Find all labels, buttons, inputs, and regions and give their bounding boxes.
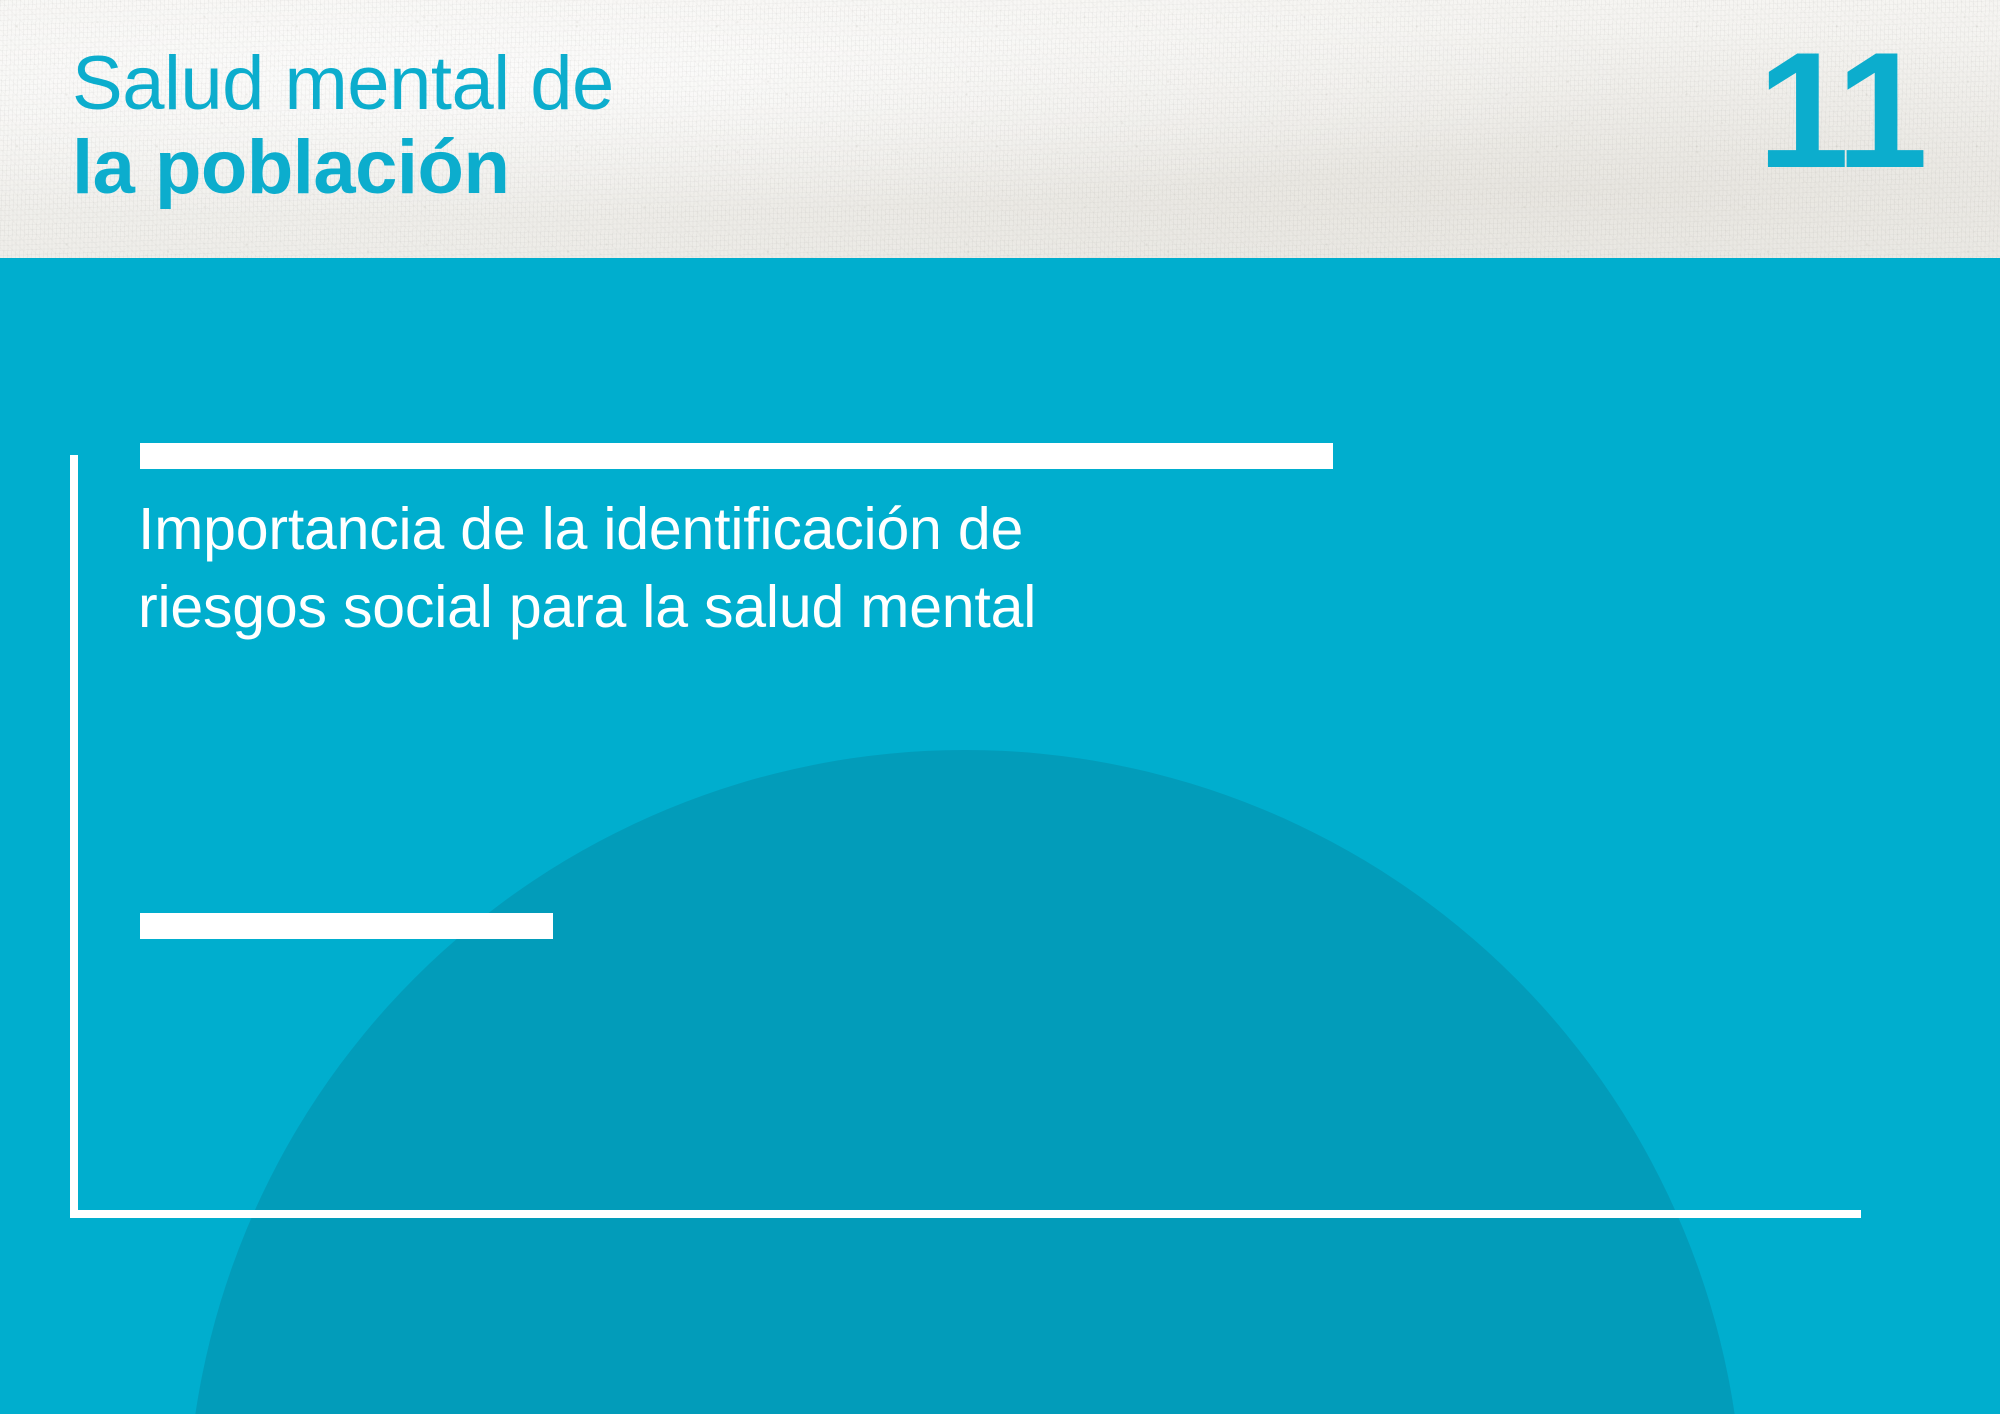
page-title-line-2: la población bbox=[72, 126, 614, 210]
section-subtitle-line-2: riesgos social para la salud mental bbox=[138, 568, 1438, 646]
page-title-line-1: Salud mental de bbox=[72, 42, 614, 126]
main-panel: Importancia de la identificación de ries… bbox=[0, 258, 2000, 1414]
section-subtitle: Importancia de la identificación de ries… bbox=[138, 490, 1438, 647]
accent-bar-top bbox=[140, 443, 1333, 469]
chapter-number: 11 bbox=[1758, 28, 1924, 193]
section-subtitle-line-1: Importancia de la identificación de bbox=[138, 490, 1438, 568]
header-band: Salud mental de la población 11 bbox=[0, 0, 2000, 258]
frame-horizontal-rule bbox=[70, 1210, 1861, 1218]
decorative-circle bbox=[187, 750, 1743, 1414]
accent-bar-middle bbox=[140, 913, 553, 939]
slide-root: Salud mental de la población 11 Importan… bbox=[0, 0, 2000, 1414]
frame-vertical-rule bbox=[70, 455, 78, 1218]
page-title: Salud mental de la población bbox=[72, 42, 614, 209]
